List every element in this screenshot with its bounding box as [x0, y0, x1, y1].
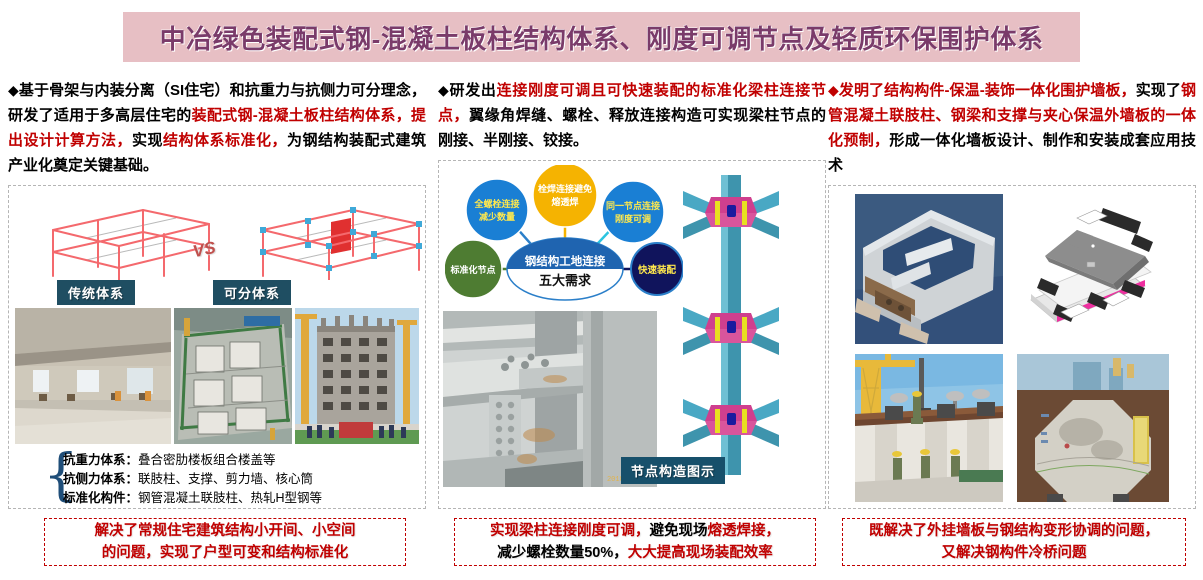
separable-frame-diagram	[243, 194, 433, 280]
right-conclusion-line2: 又解决钢构件冷桥问题	[942, 545, 1087, 561]
svg-text:熔透焊: 熔透焊	[551, 196, 578, 207]
right-photo-row-top	[835, 194, 1189, 346]
label-separable-system: 可分体系	[213, 280, 291, 305]
bullet-marker-right: ◆	[828, 82, 839, 98]
right-conclusion-line1: 既解决了外挂墙板与钢结构变形协调的问题，	[869, 523, 1159, 539]
svg-text:五大需求: 五大需求	[539, 273, 592, 288]
right-photo-row-bottom	[835, 354, 1189, 504]
column-middle: ◆研发出连接刚度可调且可快速装配的标准化梁柱连接节点，翼缘角焊缝、螺栓、释放连接…	[438, 78, 826, 509]
node-diagram-caption: 节点构造图示	[621, 457, 725, 484]
interior-floor-photo	[15, 308, 171, 444]
frame-comparison-diagrams: VS	[15, 192, 419, 280]
list-value-0: 叠合密肋楼板组合楼盖等	[138, 453, 276, 467]
mid-seg-2: 翼缘角焊缝、螺栓、释放连接构造可实现梁柱节点的刚接、半刚接、铰接。	[438, 107, 826, 149]
bullet-marker-left: ◆	[8, 82, 19, 98]
slide-title-bar: 中冶绿色装配式钢-混凝土板柱结构体系、刚度可调节点及轻质环保围护体系	[123, 12, 1080, 62]
left-seg-3: 结构体系标准化，	[163, 132, 287, 149]
mid-conclusion-1b: 避免现场	[650, 523, 708, 539]
svg-text:同一节点连接: 同一节点连接	[606, 200, 660, 211]
mid-conclusion-1a: 实现梁柱连接刚度可调，	[490, 523, 650, 539]
left-seg-2: 实现	[132, 132, 163, 149]
left-bullet-text: ◆基于骨架与内装分离（SI住宅）和抗重力与抗侧力可分理念，研发了适用于多高层住宅…	[8, 78, 426, 178]
right-conclusion-box: 既解决了外挂墙板与钢结构变形协调的问题， 又解决钢构件冷桥问题	[842, 518, 1186, 566]
slide-root: 中冶绿色装配式钢-混凝土板柱结构体系、刚度可调节点及轻质环保围护体系 ◆基于骨架…	[0, 0, 1203, 580]
left-conclusion-box: 解决了常规住宅建筑结构小开间、小空间 的问题，实现了户型可变和结构标准化	[44, 518, 406, 566]
middle-content-panel: 钢结构工地连接 五大需求 标准化节点 全螺栓连接 减少数量 栓焊连接避免 熔透焊	[438, 160, 826, 509]
mid-conclusion-2b: 大大提高现场装配效率	[628, 545, 773, 561]
svg-text:全螺栓连接: 全螺栓连接	[473, 198, 519, 209]
column-left: ◆基于骨架与内装分离（SI住宅）和抗重力与抗侧力可分理念，研发了适用于多高层住宅…	[8, 78, 426, 509]
svg-text:减少数量: 减少数量	[479, 211, 515, 222]
highrise-under-construction-photo	[295, 308, 419, 444]
left-conclusion-line2: 的问题，实现了户型可变和结构标准化	[102, 545, 349, 561]
svg-text:刚度可调: 刚度可调	[615, 213, 651, 224]
wall-panel-cad-render	[1017, 194, 1169, 344]
frame-labels-row: 传统体系 可分体系	[15, 280, 419, 304]
list-value-1: 联肢柱、支撑、剪力墙、核心筒	[138, 472, 313, 486]
label-traditional-system: 传统体系	[57, 280, 135, 305]
mid-conclusion-1c: 熔透焊接，	[708, 523, 781, 539]
mid-conclusion-2a: 减少螺栓数量50%，	[497, 545, 628, 561]
mid-seg-0: 研发出	[449, 82, 496, 99]
node-structure-illustration	[671, 165, 791, 485]
svg-text:标准化节点: 标准化节点	[449, 264, 495, 275]
right-content-panel	[828, 185, 1196, 509]
list-item: 抗侧力体系：联肢柱、支撑、剪力墙、核心筒	[63, 470, 322, 489]
left-photo-row	[15, 308, 419, 444]
list-item: 抗重力体系：叠合密肋楼板组合楼盖等	[63, 451, 322, 470]
installed-wall-panel-photo	[1017, 354, 1169, 502]
list-label-1: 抗侧力体系：	[63, 472, 138, 486]
brace-icon: {	[43, 450, 57, 508]
panel-hoisting-site-photo	[855, 354, 1003, 502]
svg-text:栓焊连接避免: 栓焊连接避免	[538, 183, 592, 194]
bullet-marker-middle: ◆	[438, 82, 449, 98]
aerial-construction-site-photo	[174, 308, 292, 444]
right-seg-1: 实现了	[1136, 82, 1181, 99]
five-requirements-bubble-diagram: 钢结构工地连接 五大需求 标准化节点 全螺栓连接 减少数量 栓焊连接避免 熔透焊	[445, 165, 683, 315]
list-label-2: 标准化构件：	[63, 491, 138, 505]
middle-conclusion-box: 实现梁柱连接刚度可调，避免现场熔透焊接， 减少螺栓数量50%，大大提高现场装配效…	[454, 518, 816, 566]
list-item: 标准化构件：钢管混凝土联肢柱、热轧H型钢等	[63, 489, 322, 508]
right-seg-0: 发明了结构构件-保温-装饰一体化围护墙板，	[839, 82, 1136, 99]
right-bullet-text: ◆发明了结构构件-保温-装饰一体化围护墙板，实现了钢管混凝土联肢柱、钢梁和支撑与…	[828, 78, 1196, 178]
left-content-panel: VS 传统体系 可分体系	[8, 185, 426, 509]
middle-bullet-text: ◆研发出连接刚度可调且可快速装配的标准化梁柱连接节点，翼缘角焊缝、螺栓、释放连接…	[438, 78, 826, 153]
svg-text:钢结构工地连接: 钢结构工地连接	[525, 254, 606, 268]
page-title: 中冶绿色装配式钢-混凝土板柱结构体系、刚度可调节点及轻质环保围护体系	[160, 19, 1044, 56]
list-value-2: 钢管混凝土联肢柱、热轧H型钢等	[138, 491, 322, 505]
left-conclusion-line1: 解决了常规住宅建筑结构小开间、小空间	[95, 523, 356, 539]
list-label-0: 抗重力体系：	[63, 453, 138, 467]
traditional-frame-diagram	[33, 194, 223, 280]
system-composition-list: { 抗重力体系：叠合密肋楼板组合楼盖等 抗侧力体系：联肢柱、支撑、剪力墙、核心筒…	[15, 450, 419, 508]
column-right: ◆发明了结构构件-保温-装饰一体化围护墙板，实现了钢管混凝土联肢柱、钢梁和支撑与…	[828, 78, 1196, 509]
precast-wall-panel-photo	[855, 194, 1003, 344]
